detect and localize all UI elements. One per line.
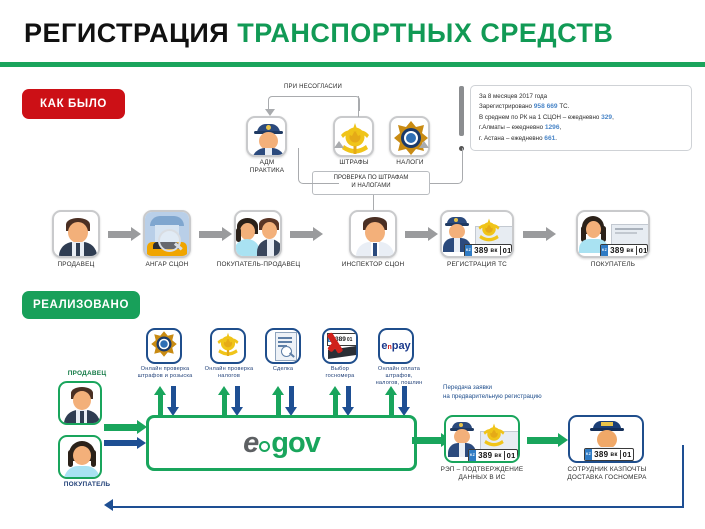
- page-title-black: РЕГИСТРАЦИЯ: [24, 18, 229, 48]
- arrow-up-plate: [333, 394, 338, 416]
- almaty-count: 1296: [545, 124, 560, 131]
- plate-region: 01: [636, 246, 648, 255]
- tile-hangar[interactable]: [143, 210, 191, 258]
- buyer-seller-pair-icon: [236, 212, 280, 256]
- arrow-inspector-to-registration: [405, 231, 429, 238]
- connector-top-right: [358, 96, 359, 117]
- police-registration-icon: KZ 389 вк 01: [442, 212, 512, 256]
- page-title: РЕГИСТРАЦИЯ ТРАНСПОРТНЫХ СРЕДСТВ: [24, 18, 613, 49]
- service-tile-tax-check[interactable]: [210, 328, 246, 364]
- page-title-green: ТРАНСПОРТНЫХ СРЕДСТВ: [237, 18, 613, 48]
- connector-note-left: [298, 148, 339, 184]
- infobox-bar: [459, 86, 464, 136]
- caption-buyer: ПОКУПАТЕЛЬ: [576, 261, 650, 269]
- police-avatar-icon: [248, 118, 285, 155]
- caption-adm-practice: АДМ ПРАКТИКА: [236, 159, 298, 175]
- service-label-deal: Сделка: [258, 366, 308, 373]
- tile-seller-after[interactable]: [58, 381, 102, 425]
- plate-number: 389: [472, 246, 490, 255]
- service-tile-plate-choice[interactable]: KZ 389 01: [322, 328, 358, 364]
- service-tile-epay[interactable]: enpay: [378, 328, 414, 364]
- buyer-avatar-icon: KZ 389 вк 01: [578, 212, 648, 256]
- caption-buyer-seller: ПОКУПАТЕЛЬ-ПРОДАВЕЦ: [216, 261, 301, 269]
- epay-logo-icon: enpay: [381, 340, 410, 352]
- arrow-up-epay: [389, 394, 394, 416]
- arrow-seller-to-egov: [104, 424, 138, 431]
- arrow-up-fines: [158, 394, 163, 416]
- arrow-down-plate: [346, 386, 351, 408]
- tile-buyer-seller[interactable]: [234, 210, 282, 258]
- connector-disagreement: [268, 96, 360, 111]
- infobox-line-4: г.Алматы – ежедневно 1296,: [479, 123, 683, 134]
- label-disagreement: ПРИ НЕСОГЛАСИИ: [268, 84, 358, 90]
- connector-note-right: [430, 148, 463, 184]
- plate-number: 389: [608, 246, 626, 255]
- connector-arrow-taxes: [419, 141, 429, 148]
- tile-registration[interactable]: KZ 389 вк 01: [440, 210, 514, 258]
- license-plate: KZ 389 вк 01: [464, 244, 512, 257]
- header-divider: [0, 62, 705, 67]
- infobox-line-3: В среднем по РК на 1 СЦОН – ежедневно 32…: [479, 113, 683, 124]
- state-emblem-icon: [335, 118, 372, 155]
- tile-taxes[interactable]: [389, 116, 430, 157]
- section-badge-before: КАК БЫЛО: [22, 89, 125, 119]
- plate-series: вк: [626, 248, 635, 254]
- arrow-hangar-to-pair: [199, 231, 223, 238]
- caption-inspector: ИНСПЕКТОР СЦОН: [336, 261, 410, 269]
- tile-seller[interactable]: [52, 210, 100, 258]
- license-plate: KZ 389 вк 01: [600, 244, 648, 257]
- plate-country: KZ: [601, 244, 608, 257]
- tile-inspector[interactable]: [349, 210, 397, 258]
- connector-arrow-fines: [334, 141, 344, 148]
- astana-count: 661: [544, 135, 555, 142]
- section-badge-after: РЕАЛИЗОВАНО: [22, 291, 140, 319]
- seller-avatar-icon: [54, 212, 98, 256]
- tile-fines[interactable]: [333, 116, 374, 157]
- arrow-registration-to-buyer: [523, 231, 547, 238]
- return-arrow-head: [104, 499, 113, 511]
- arrow-egov-to-rep: [412, 437, 442, 444]
- arrow-down-fines: [171, 386, 176, 408]
- service-label-fines-check: Онлайн проверка штрафов и розыска: [135, 366, 195, 380]
- caption-seller: ПРОДАВЕЦ: [40, 261, 112, 269]
- statistics-infobox: За 8 месяцев 2017 года Зарегистрировано …: [470, 85, 692, 151]
- caption-registration: РЕГИСТРАЦИЯ ТС: [440, 261, 514, 269]
- arrow-down-epay: [402, 386, 407, 408]
- arrow-down-tax: [235, 386, 240, 408]
- note-transfer-request: Передача заявки на предварительную регис…: [443, 384, 583, 401]
- service-label-epay: Онлайн оплата штрафов, налогов, пошлин: [367, 366, 431, 387]
- tile-buyer-after[interactable]: [58, 435, 102, 479]
- arrow-up-tax: [222, 394, 227, 416]
- document-search-icon: [267, 328, 299, 364]
- connector-inspector-note: [373, 195, 374, 210]
- infobox-line-2: Зарегистрировано 958 669 ТС.: [479, 102, 683, 113]
- tile-adm-practice[interactable]: [246, 116, 287, 157]
- hangar-inspection-icon: [145, 212, 189, 256]
- service-tile-fines-check[interactable]: [146, 328, 182, 364]
- arrow-up-deal: [276, 394, 281, 416]
- state-emblem-icon: [213, 329, 243, 364]
- police-emblem-icon: [149, 329, 179, 364]
- connector-arrow-adm: [265, 109, 275, 116]
- plate-check-icon: KZ 389 01: [324, 328, 356, 364]
- service-label-plate-choice: Выбор госномера: [315, 366, 365, 380]
- tile-buyer[interactable]: KZ 389 вк 01: [576, 210, 650, 258]
- service-tile-deal[interactable]: [265, 328, 301, 364]
- avg-rk-count: 329: [601, 114, 612, 121]
- police-emblem-icon: [391, 118, 428, 155]
- inspector-avatar-icon: [351, 212, 395, 256]
- seller-avatar-icon: [60, 383, 100, 423]
- arrow-down-deal: [289, 386, 294, 408]
- infobox-line-5: г. Астана – ежедневно 661.: [479, 134, 683, 145]
- return-path-kazpost-to-buyer: [110, 445, 684, 508]
- plate-region: 01: [500, 246, 512, 255]
- registered-count: 958 669: [534, 103, 558, 110]
- infobox-line-1: За 8 месяцев 2017 года: [479, 92, 683, 102]
- arrow-pair-to-inspector: [290, 231, 314, 238]
- buyer-avatar-icon: [60, 437, 100, 477]
- plate-country: KZ: [465, 244, 472, 257]
- infographic-canvas: РЕГИСТРАЦИЯ ТРАНСПОРТНЫХ СРЕДСТВ КАК БЫЛ…: [0, 0, 705, 529]
- arrow-seller-to-hangar: [108, 231, 132, 238]
- label-seller-after: ПРОДАВЕЦ: [52, 370, 122, 378]
- arrow-rep-to-kazpost: [527, 437, 559, 444]
- service-label-tax-check: Онлайн проверка налогов: [200, 366, 258, 380]
- plate-series: вк: [490, 248, 499, 254]
- caption-hangar: АНГАР СЦОН: [134, 261, 200, 269]
